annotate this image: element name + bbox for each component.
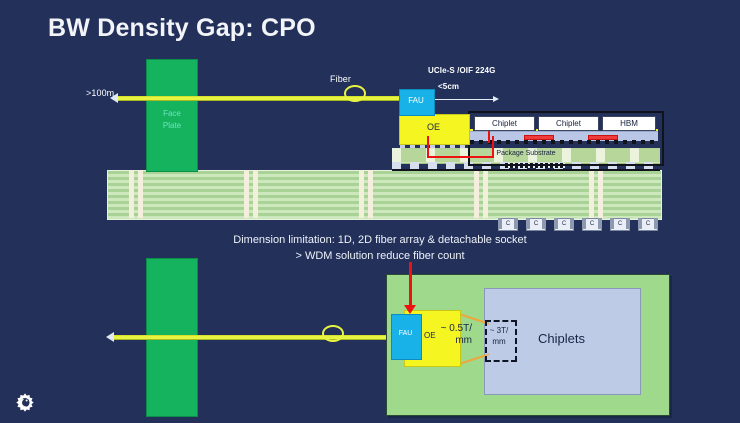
red-pointer-arrowhead: [404, 305, 416, 314]
chip-density-line2: mm: [485, 336, 513, 347]
oe-density-line2: mm: [434, 335, 472, 347]
oe-bandwidth-density: ~ 0.5T/ mm: [434, 323, 472, 347]
interposer-bumps: [470, 140, 658, 144]
fiber-loop-icon: [344, 85, 366, 102]
distance-label: <5cm: [438, 82, 459, 91]
chip-density-line1: ~ 3T/: [485, 325, 513, 336]
pcb-capacitor: C: [554, 218, 574, 231]
red-pointer-line: [409, 262, 412, 310]
pcb-via-columns: [107, 170, 660, 218]
interface-standard-label: UCIe-S /OIF 224G: [428, 66, 495, 75]
fau-block-bottom: [391, 314, 422, 360]
reach-label: >100m: [86, 88, 114, 98]
oe-density-line1: ~ 0.5T/: [434, 323, 472, 335]
page-title: BW Density Gap: CPO: [48, 14, 316, 43]
chiplet-die-2: Chiplet: [538, 116, 599, 131]
face-plate-label-line1: Face: [150, 108, 194, 120]
fau-label-top: FAU: [399, 96, 433, 105]
fiber-label: Fiber: [330, 74, 351, 84]
slide-canvas: BW Density Gap: CPO C C C C C C Face Pla…: [0, 0, 740, 423]
dimension-arrow-icon: [433, 99, 493, 100]
gear-logo: [14, 392, 36, 414]
caption-line-2: > WDM solution reduce fiber count: [120, 248, 640, 264]
face-plate-label: Face Plate: [150, 108, 194, 132]
fiber-loop-icon: [322, 325, 344, 342]
fiber-line-bottom: [112, 335, 397, 340]
pcb-capacitor: C: [638, 218, 658, 231]
caption: Dimension limitation: 1D, 2D fiber array…: [120, 232, 640, 264]
pcb-capacitor: C: [610, 218, 630, 231]
hbm-die: HBM: [602, 116, 656, 131]
face-plate-label-line2: Plate: [150, 120, 194, 132]
pcb-capacitor: C: [498, 218, 518, 231]
oe-label-top: OE: [399, 122, 468, 132]
fiber-arrow-icon: [106, 332, 114, 342]
red-signal-trace: [427, 136, 494, 158]
fau-label-bottom: FAU: [391, 330, 420, 337]
pcb-capacitor: C: [582, 218, 602, 231]
red-link-2: [588, 135, 618, 140]
pcb-capacitor: C: [526, 218, 546, 231]
caption-line-1: Dimension limitation: 1D, 2D fiber array…: [233, 234, 526, 246]
chiplet-die-1: Chiplet: [474, 116, 535, 131]
chip-bandwidth-density: ~ 3T/ mm: [485, 325, 513, 347]
red-signal-trace-riser: [488, 131, 490, 143]
red-link-1: [524, 135, 554, 140]
